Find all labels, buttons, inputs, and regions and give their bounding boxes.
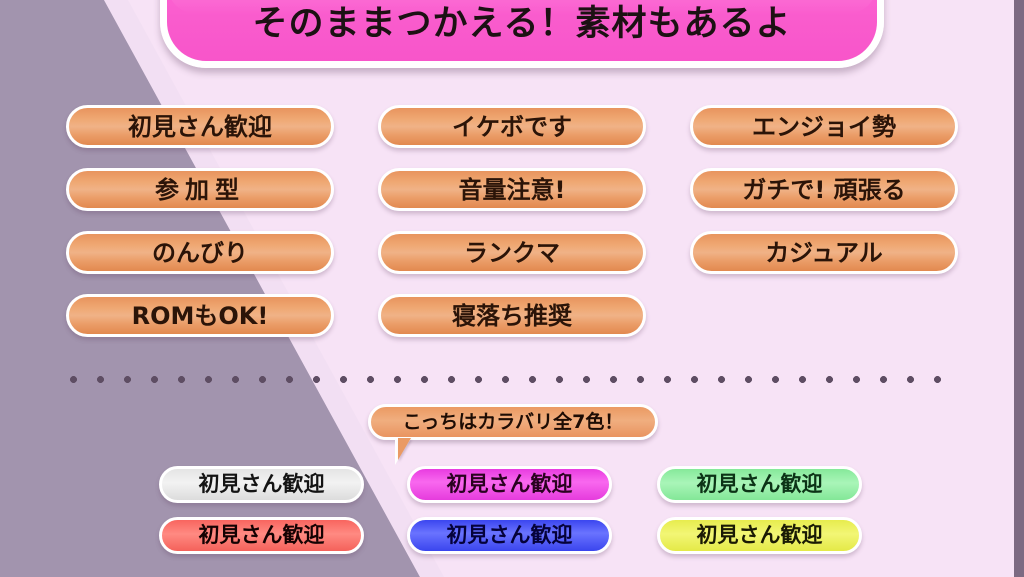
- color-swatch-label: 初見さん歓迎: [697, 525, 823, 546]
- tag-pill-label: ガチで! 頑張る: [742, 178, 905, 202]
- tag-pill[interactable]: 参加型: [66, 168, 334, 211]
- color-swatch-label: 初見さん歓迎: [447, 474, 573, 495]
- tag-pill-label: ROMもOK!: [132, 304, 269, 328]
- tag-pill[interactable]: 寝落ち推奨: [378, 294, 646, 337]
- bubble-tail-decoration: [398, 438, 420, 460]
- tag-pill[interactable]: ランクマ: [378, 231, 646, 274]
- tag-pill-label: イケボです: [452, 115, 572, 139]
- tag-pill[interactable]: イケボです: [378, 105, 646, 148]
- tag-pill-label: カジュアル: [765, 241, 883, 265]
- color-swatch-red[interactable]: 初見さん歓迎: [159, 517, 364, 554]
- color-swatch-label: 初見さん歓迎: [447, 525, 573, 546]
- page-title: そのままつかえる！素材もあるよ: [253, 7, 792, 61]
- bubble-label: こっちはカラバリ全7色！: [403, 413, 624, 432]
- title-banner: そのままつかえる！素材もあるよ: [160, 0, 884, 68]
- tag-column-2: イケボです 音量注意! ランクマ 寝落ち推奨: [378, 105, 646, 357]
- color-swatch-blue[interactable]: 初見さん歓迎: [407, 517, 612, 554]
- tag-pill-label: エンジョイ勢: [752, 115, 896, 139]
- tag-pill-label: のんびり: [152, 241, 248, 265]
- color-swatch-label: 初見さん歓迎: [697, 474, 823, 495]
- swatch-column-1: 初見さん歓迎 初見さん歓迎: [159, 466, 364, 568]
- tag-pill[interactable]: 初見さん歓迎: [66, 105, 334, 148]
- swatch-column-2: 初見さん歓迎 初見さん歓迎: [407, 466, 612, 568]
- tag-pill-label: 初見さん歓迎: [128, 115, 272, 139]
- right-edge-strip-decoration: [1014, 0, 1024, 577]
- tag-pill[interactable]: ROMもOK!: [66, 294, 334, 337]
- tag-pill[interactable]: ガチで! 頑張る: [690, 168, 958, 211]
- tag-column-3: エンジョイ勢 ガチで! 頑張る カジュアル: [690, 105, 958, 294]
- tag-pill-label: 寝落ち推奨: [452, 304, 572, 328]
- tag-pill[interactable]: カジュアル: [690, 231, 958, 274]
- tag-pill[interactable]: 音量注意!: [378, 168, 646, 211]
- tag-pill[interactable]: のんびり: [66, 231, 334, 274]
- color-swatch-label: 初見さん歓迎: [199, 525, 325, 546]
- color-swatch-white[interactable]: 初見さん歓迎: [159, 466, 364, 503]
- tag-pill-label: ランクマ: [464, 241, 560, 265]
- color-swatch-yellow[interactable]: 初見さん歓迎: [657, 517, 862, 554]
- color-swatch-green[interactable]: 初見さん歓迎: [657, 466, 862, 503]
- swatch-column-3: 初見さん歓迎 初見さん歓迎: [657, 466, 862, 568]
- tag-pill[interactable]: エンジョイ勢: [690, 105, 958, 148]
- color-variant-callout-bubble: こっちはカラバリ全7色！: [368, 404, 658, 440]
- poster-canvas: そのままつかえる！素材もあるよ 初見さん歓迎 参加型 のんびり ROMもOK! …: [0, 0, 1024, 577]
- tag-pill-label: 音量注意!: [459, 178, 566, 202]
- color-swatch-label: 初見さん歓迎: [199, 474, 325, 495]
- dotted-divider: [60, 376, 960, 383]
- tag-pill-label: 参加型: [155, 178, 245, 202]
- tag-column-1: 初見さん歓迎 参加型 のんびり ROMもOK!: [66, 105, 334, 357]
- color-swatch-magenta[interactable]: 初見さん歓迎: [407, 466, 612, 503]
